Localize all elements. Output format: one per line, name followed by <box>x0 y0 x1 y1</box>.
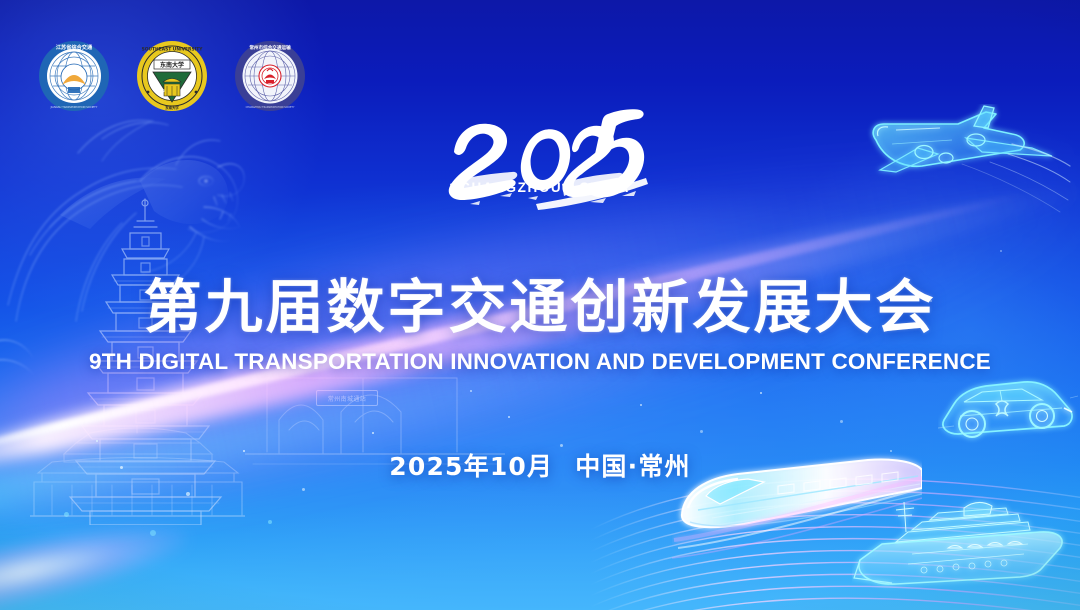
svg-text:SOUTHEAST UNIVERSITY: SOUTHEAST UNIVERSITY <box>142 47 204 53</box>
title-block: 第九届数字交通创新发展大会 9TH DIGITAL TRANSPORTATION… <box>0 278 1080 374</box>
jiangsu-transport-society-logo: 江苏省综合交通 JIANGSU TRANSPORTATION SOCIETY <box>38 40 110 112</box>
southeast-university-logo: SOUTHEAST UNIVERSITY 东南大学 东南大学 1902 南京 <box>136 40 208 112</box>
changzhou-transport-society-logo: 常州市综合交通运输 CHANGZHOU TRANSPORTATION SOCIE… <box>234 40 306 112</box>
conference-title-cn: 第九届数字交通创新发展大会 <box>0 278 1080 336</box>
brush-year-2025 <box>440 104 650 214</box>
svg-text:CHANGZHOU TRANSPORTATION SOCIE: CHANGZHOU TRANSPORTATION SOCIETY <box>246 106 295 109</box>
brush-city-line: CHANGZHOU · CHINA <box>440 180 650 195</box>
svg-text:东南大学: 东南大学 <box>160 61 184 69</box>
svg-text:1902: 1902 <box>157 89 165 93</box>
svg-text:东南大学: 东南大学 <box>165 105 179 110</box>
svg-text:JIANGSU TRANSPORTATION SOCIETY: JIANGSU TRANSPORTATION SOCIETY <box>50 105 98 109</box>
organizer-logos: 江苏省综合交通 JIANGSU TRANSPORTATION SOCIETY S… <box>38 40 306 112</box>
conference-poster: 常州南城通站 <box>0 0 1080 610</box>
conference-location: 中国·常州 <box>575 452 691 481</box>
svg-text:南京: 南京 <box>181 88 187 93</box>
svg-text:江苏省综合交通: 江苏省综合交通 <box>56 43 93 51</box>
conference-date: 2025年10月 <box>389 452 553 481</box>
svg-text:常州市综合交通运输: 常州市综合交通运输 <box>249 44 291 51</box>
conference-meta: 2025年10月中国·常州 <box>0 447 1080 483</box>
conference-title-en: 9TH DIGITAL TRANSPORTATION INNOVATION AN… <box>0 351 1080 374</box>
